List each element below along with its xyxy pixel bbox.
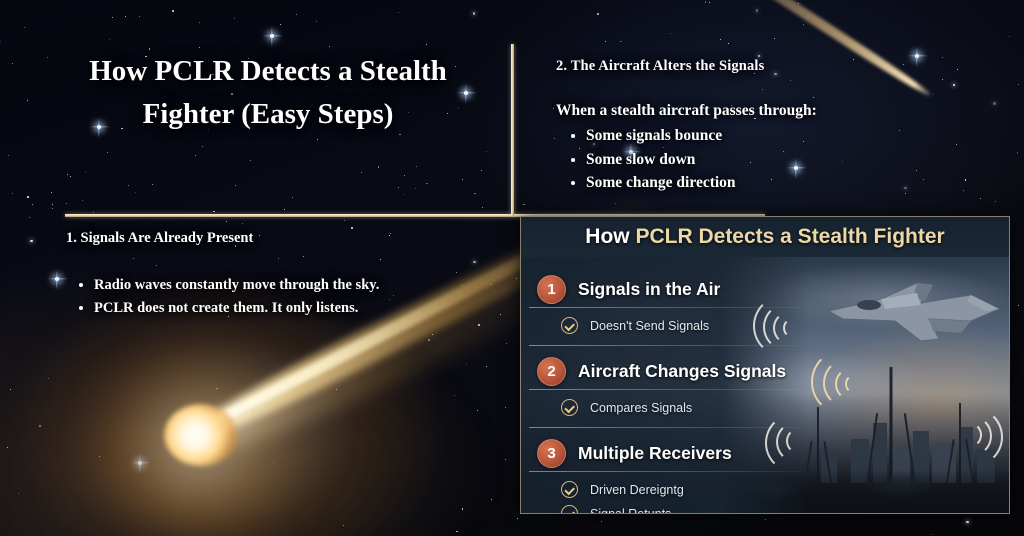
- star-icon: [10, 389, 11, 390]
- star-icon: [296, 14, 297, 15]
- star-icon: [199, 47, 200, 48]
- star-icon: [517, 518, 518, 519]
- star-icon: [486, 151, 487, 152]
- star-icon: [0, 41, 1, 42]
- step-1-bullet-list: Radio waves constantly move through the …: [66, 274, 496, 321]
- star-icon: [482, 207, 484, 209]
- star-icon: [462, 179, 463, 180]
- star-icon: [273, 462, 274, 463]
- star-icon: [361, 172, 362, 173]
- star-icon: [404, 175, 405, 176]
- step-label: Signals in the Air: [578, 279, 720, 300]
- star-icon: [765, 519, 766, 520]
- list-item: Some change direction: [586, 171, 976, 195]
- star-icon: [70, 176, 71, 177]
- star-icon: [980, 198, 981, 199]
- star-icon: [728, 43, 729, 44]
- check-circle-icon: [561, 399, 578, 416]
- star-icon: [378, 166, 380, 168]
- star-icon: [756, 9, 758, 11]
- star-icon: [235, 185, 236, 186]
- star-icon: [398, 187, 399, 188]
- star-icon: [48, 378, 49, 379]
- star-icon: [597, 13, 599, 15]
- star-icon: [932, 534, 933, 535]
- step-2-bullet-list: Some signals bounce Some slow down Some …: [556, 124, 976, 195]
- star-icon: [39, 425, 41, 427]
- star-icon: [12, 63, 14, 65]
- row-divider: [529, 307, 801, 308]
- subitem-label: Driven Dereigntg: [590, 483, 684, 497]
- step-number-badge: 1: [537, 275, 566, 304]
- star-icon: [329, 46, 330, 47]
- star-icon: [670, 33, 671, 34]
- star-icon: [66, 203, 67, 204]
- step-label: Multiple Receivers: [578, 443, 732, 464]
- star-icon: [605, 41, 606, 42]
- step-2-subheading: When a stealth aircraft passes through:: [556, 102, 976, 120]
- star-icon: [99, 456, 100, 457]
- star-icon: [554, 138, 555, 139]
- star-icon: [67, 174, 68, 175]
- card-title: How PCLR Detects a Stealth Fighter: [521, 217, 1009, 257]
- star-icon: [486, 366, 488, 368]
- step-1-block: 1. Signals Are Already Present Radio wav…: [66, 230, 496, 321]
- vertical-divider: [511, 44, 514, 216]
- row-divider: [529, 389, 801, 390]
- list-item: PCLR does not create them. It only liste…: [94, 297, 496, 320]
- star-icon: [24, 27, 25, 28]
- comet-glow: [84, 338, 334, 536]
- star-icon: [709, 2, 710, 3]
- star-icon: [280, 24, 281, 25]
- star-icon: [803, 24, 804, 25]
- step-label: Aircraft Changes Signals: [578, 361, 786, 382]
- star-icon: [343, 525, 344, 526]
- row-divider: [529, 345, 801, 346]
- star-icon: [601, 521, 602, 522]
- star-icon: [478, 324, 480, 326]
- star-icon: [234, 18, 235, 19]
- star-icon: [284, 209, 285, 210]
- star-icon: [620, 41, 622, 43]
- step-2-heading: 2. The Aircraft Alters the Signals: [556, 58, 976, 75]
- star-icon: [415, 188, 416, 189]
- star-icon: [1018, 84, 1019, 85]
- list-item: Radio waves constantly move through the …: [94, 274, 496, 297]
- star-icon: [85, 171, 86, 172]
- star-icon: [213, 211, 215, 213]
- star-icon: [454, 395, 455, 396]
- star-icon: [477, 410, 478, 411]
- star-icon: [12, 193, 13, 194]
- star-icon: [473, 12, 475, 14]
- card-step-1[interactable]: 1 Signals in the Air: [537, 275, 720, 304]
- pclr-infographic-card: How PCLR Detects a Stealth Fighter: [520, 216, 1010, 514]
- star-icon: [109, 39, 110, 40]
- comet-dust: [40, 310, 510, 536]
- star-icon: [1009, 36, 1010, 37]
- card-title-white: How: [585, 225, 635, 248]
- star-icon: [30, 240, 32, 242]
- star-icon: [107, 152, 108, 153]
- star-icon: [7, 447, 8, 448]
- star-icon: [516, 278, 517, 279]
- comet-nucleus: [164, 404, 238, 466]
- star-icon: [29, 217, 30, 218]
- star-icon: [995, 201, 996, 202]
- star-icon: [8, 155, 9, 156]
- star-icon: [316, 21, 317, 22]
- card-step-1-subitem[interactable]: Doesn't Send Signals: [561, 317, 709, 334]
- star-icon: [18, 493, 19, 494]
- stealth-fighter-icon: [821, 265, 1006, 353]
- infographic-canvas: How PCLR Detects a Stealth Fighter (Easy…: [0, 0, 1024, 536]
- star-icon: [199, 22, 201, 24]
- subitem-label: Compares Signals: [590, 401, 692, 415]
- star-icon: [403, 194, 404, 195]
- page-title: How PCLR Detects a Stealth Fighter (Easy…: [48, 50, 488, 136]
- card-step-3-subitem[interactable]: Driven Dereigntg: [561, 481, 684, 498]
- star-icon: [432, 334, 434, 336]
- card-step-2-subitem[interactable]: Compares Signals: [561, 399, 692, 416]
- star-icon: [506, 343, 507, 344]
- subitem-label: Signal Retunts: [590, 507, 671, 515]
- star-icon: [351, 227, 353, 229]
- step-number-badge: 3: [537, 439, 566, 468]
- star-icon: [202, 146, 203, 147]
- list-item: Some signals bounce: [586, 124, 976, 148]
- step-number-badge: 2: [537, 357, 566, 386]
- star-icon: [139, 16, 140, 17]
- star-icon: [27, 100, 28, 101]
- star-icon: [615, 203, 616, 204]
- star-icon: [128, 185, 129, 186]
- star-icon: [27, 196, 29, 198]
- star-icon: [553, 108, 554, 109]
- star-icon: [966, 521, 968, 523]
- card-step-3-subitem[interactable]: Signal Retunts: [561, 505, 671, 514]
- star-icon: [172, 10, 174, 12]
- star-icon: [758, 55, 760, 57]
- star-icon: [798, 3, 799, 4]
- star-icon: [336, 389, 337, 390]
- star-icon: [993, 102, 995, 104]
- star-icon: [292, 197, 293, 198]
- check-circle-icon: [561, 317, 578, 334]
- star-icon: [705, 1, 707, 3]
- star-icon: [428, 339, 430, 341]
- star-icon: [195, 155, 196, 156]
- star-icon: [112, 17, 113, 18]
- star-icon: [226, 221, 227, 222]
- star-icon: [250, 160, 251, 161]
- row-divider: [529, 427, 801, 428]
- star-icon: [216, 388, 218, 390]
- star-icon: [774, 38, 775, 39]
- star-icon: [426, 44, 427, 45]
- star-icon: [317, 139, 318, 140]
- star-icon: [398, 12, 399, 13]
- star-icon: [242, 223, 243, 224]
- star-icon: [344, 220, 345, 221]
- star-icon: [505, 407, 506, 408]
- star-icon: [152, 184, 153, 185]
- star-icon: [32, 204, 33, 205]
- star-icon: [505, 459, 506, 460]
- star-icon: [51, 192, 52, 193]
- star-icon: [466, 364, 467, 365]
- card-title-gold: PCLR Detects a Stealth Fighter: [635, 225, 944, 248]
- row-divider: [529, 471, 801, 472]
- star-icon: [1017, 152, 1019, 154]
- star-icon: [491, 499, 492, 500]
- star-icon: [523, 204, 525, 206]
- card-step-2[interactable]: 2 Aircraft Changes Signals: [537, 357, 786, 386]
- star-icon: [52, 208, 53, 209]
- check-circle-icon: [561, 481, 578, 498]
- subitem-label: Doesn't Send Signals: [590, 319, 709, 333]
- star-icon: [481, 170, 482, 171]
- star-icon: [426, 183, 428, 185]
- step-1-heading: 1. Signals Are Already Present: [66, 230, 496, 247]
- star-icon: [82, 200, 83, 201]
- star-icon: [720, 39, 721, 40]
- star-icon: [52, 204, 53, 205]
- step-2-block: 2. The Aircraft Alters the Signals When …: [556, 58, 976, 195]
- check-circle-icon: [561, 505, 578, 514]
- star-icon: [93, 212, 94, 213]
- star-icon: [135, 192, 136, 193]
- star-icon: [462, 508, 464, 510]
- star-icon: [248, 412, 250, 414]
- star-icon: [416, 166, 417, 167]
- star-icon: [456, 531, 458, 533]
- star-icon: [500, 314, 501, 315]
- star-icon: [1018, 305, 1020, 307]
- star-icon: [125, 16, 126, 17]
- card-step-3[interactable]: 3 Multiple Receivers: [537, 439, 732, 468]
- star-icon: [474, 193, 476, 195]
- list-item: Some slow down: [586, 148, 976, 172]
